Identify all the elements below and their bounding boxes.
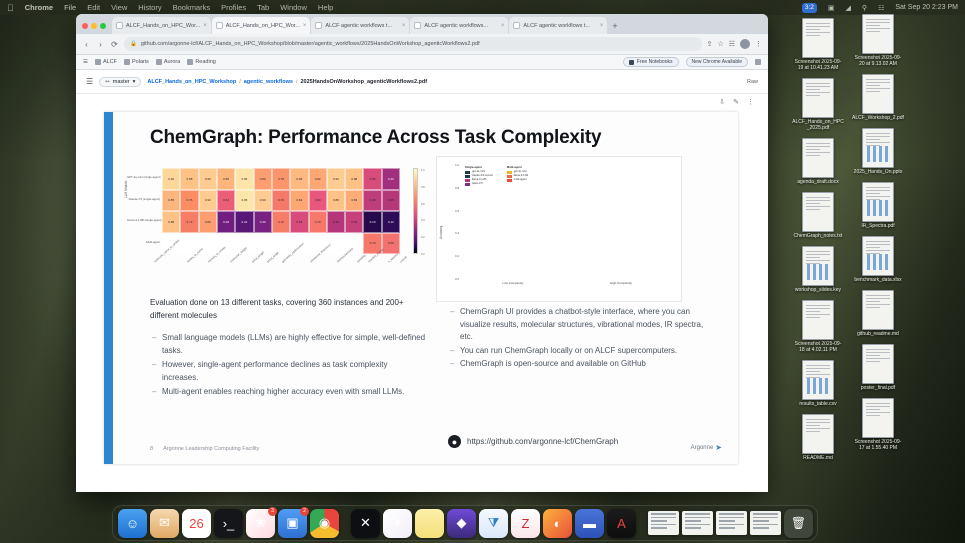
maximize-window-button[interactable] <box>100 23 106 29</box>
menu-item-profiles[interactable]: Profiles <box>221 3 246 12</box>
heatmap-cell: 0.83 <box>345 190 363 212</box>
slide-page-number: 8 <box>150 446 153 452</box>
desktop-icon[interactable]: results_table.csv <box>792 360 844 407</box>
menu-item-history[interactable]: History <box>138 3 161 12</box>
heatmap-cell: 0.55 <box>290 211 308 233</box>
bookmark-label: ALCF <box>103 59 117 65</box>
heatmap-cell: 0.82 <box>290 190 308 212</box>
heatmap-cell: 0.95 <box>235 168 253 190</box>
legend-group: Single-agentgpt-4o-miniclaude-3.5-sonnet… <box>465 165 493 186</box>
tab-close-icon[interactable]: × <box>203 23 207 29</box>
legend-swatch <box>507 171 512 174</box>
legend-swatch <box>465 175 470 178</box>
bar-chart-x-tick-labels: Low ComplexityHigh Complexity <box>459 281 675 295</box>
bookmark-alcf[interactable]: ALCF <box>95 59 117 65</box>
breadcrumb-separator: / <box>296 79 298 85</box>
legend-group-title: Single-agent <box>465 165 493 169</box>
desktop-icon[interactable]: ChemGraph_notes.txt <box>792 192 844 239</box>
legend-swatch <box>465 171 470 174</box>
heatmap-cell: 0.88 <box>180 168 198 190</box>
edit-icon[interactable]: ✎ <box>733 98 739 106</box>
desktop-icon[interactable]: workshop_slides.key <box>792 246 844 293</box>
macos-dock: ☺✉26›_❀3▣2◉✕✳◆⧩Z◐▬A🗑 <box>112 505 818 541</box>
desktop-icon[interactable]: agenda_draft.docx <box>792 138 844 185</box>
desktop-icon[interactable]: Screenshot 2025-09-18 at 4.02.11 PM <box>792 300 844 353</box>
presentation-slide: ChemGraph: Performance Across Task Compl… <box>104 112 738 464</box>
browser-tab-4[interactable]: ALCF agentic workflows t...× <box>509 17 607 34</box>
address-bar[interactable]: 🔒 github.com/argonne-lcf/ALCF_Hands_on_H… <box>124 37 702 51</box>
tab-favicon-icon <box>315 22 322 29</box>
slide-footer: 8 Argonne Leadership Computing Facility <box>150 446 259 452</box>
file-thumbnail-icon <box>802 192 834 232</box>
desktop-icon-column-2: Screenshot 2025-09-20 at 9.13.02 AMALCF_… <box>852 14 904 458</box>
breadcrumb-repo[interactable]: ALCF_Hands_on_HPC_Workshop <box>147 79 236 85</box>
bookmark-label: Reading <box>195 59 216 65</box>
file-thumbnail-icon <box>862 344 894 384</box>
desktop-icon-label: ALCF_Workshop_2.pdf <box>852 115 904 121</box>
dock-icon-slack[interactable]: ✳ <box>383 509 412 538</box>
desktop-icon-label: Screenshot 2025-09-18 at 4.02.11 PM <box>792 341 844 353</box>
profile-avatar[interactable] <box>740 39 750 49</box>
bar-chart-y-axis-label: Accuracy <box>439 226 443 239</box>
dock-icon-calendar[interactable]: 26 <box>182 509 211 538</box>
heatmap-cell: 0.70 <box>309 211 327 233</box>
legend-group: Multi-agentgpt-4o-minillama-3.1-8bmulti-… <box>507 165 528 186</box>
lock-icon: 🔒 <box>130 41 137 47</box>
heatmap-cell: 0.30 <box>254 211 272 233</box>
dock-badge: 3 <box>268 507 277 516</box>
back-button[interactable]: ‹ <box>82 40 91 49</box>
tab-close-icon[interactable]: × <box>501 23 505 29</box>
dock-icon-vscode[interactable]: ⧩ <box>479 509 508 538</box>
dock-icon-obsidian[interactable]: ◆ <box>447 509 476 538</box>
heatmap-cell: 0.78 <box>272 168 290 190</box>
chevron-down-icon: ▾ <box>133 79 136 85</box>
tab-title: ALCF agentic workflows t... <box>523 23 596 29</box>
tab-close-icon[interactable]: × <box>303 23 307 29</box>
heatmap-cell: 0.88 <box>327 190 345 212</box>
bookmark-polaris[interactable]: Polaris <box>124 59 149 65</box>
file-thumbnail-icon <box>862 14 894 54</box>
bookmark-label: Polaris <box>132 59 149 65</box>
tab-close-icon[interactable]: × <box>600 23 604 29</box>
github-logo-icon: ● <box>448 435 461 448</box>
macos-menu-bar:  Chrome File Edit View History Bookmark… <box>0 0 965 15</box>
heatmap-cell: 0.86 <box>290 168 308 190</box>
branch-selector[interactable]: ⇿ master ▾ <box>99 77 141 87</box>
tab-favicon-icon <box>414 22 421 29</box>
tab-favicon-icon <box>216 22 223 29</box>
battery-icon[interactable]: ▣ <box>828 4 835 12</box>
legend-label: multi-agent <box>514 178 527 182</box>
file-thumbnail-icon <box>862 236 894 276</box>
slide-accent-bar <box>104 112 113 464</box>
tab-favicon-icon <box>513 22 520 29</box>
desktop-icon-label: poster_final.pdf <box>852 385 904 391</box>
desktop-icon-label: Screenshot 2025-09-19 at 10.41.23 AM <box>792 59 844 71</box>
chrome-browser-window: ALCF_Hands_on_HPC_Wor...×ALCF_Hands_on_H… <box>76 14 768 492</box>
dock-icon-xquartz[interactable]: ✕ <box>351 509 380 538</box>
heatmap-cell: 0.85 <box>162 190 180 212</box>
reload-button[interactable]: ⟳ <box>110 40 119 49</box>
bar-chart-legend: Single-agentgpt-4o-miniclaude-3.5-sonnet… <box>465 165 528 186</box>
x-tick-label: Low Complexity <box>459 281 567 295</box>
slide-left-text: Evaluation done on 13 different tasks, c… <box>150 296 426 399</box>
branch-name: master <box>113 79 130 85</box>
desktop-icon-label: Screenshot 2025-09-17 at 1.55.40 PM <box>852 439 904 451</box>
slide-right-bullet-list: ChemGraph UI provides a chatbot-style in… <box>448 306 716 371</box>
bookmark-label: Aurora <box>164 59 181 65</box>
desktop-icon-label: results_table.csv <box>792 401 844 407</box>
wifi-icon[interactable]: ◢ <box>846 4 851 12</box>
desktop-icon[interactable]: ALCF_Workshop_2.pdf <box>852 74 904 121</box>
desktop-icon[interactable]: Screenshot 2025-09-19 at 10.41.23 AM <box>792 18 844 71</box>
x-tick-label: High Complexity <box>567 281 675 295</box>
tab-favicon-icon <box>116 22 123 29</box>
chrome-update-pill[interactable]: New Chrome Available <box>686 57 749 67</box>
heatmap-cell: 0.95 <box>235 190 253 212</box>
menubar-badge[interactable]: 3:2 <box>802 3 817 13</box>
forward-button[interactable]: › <box>96 40 105 49</box>
dock-icon-trash[interactable]: 🗑 <box>784 509 813 538</box>
heatmap-cell: 0.90 <box>327 168 345 190</box>
desktop-icon-label: workshop_slides.key <box>792 287 844 293</box>
desktop-icon[interactable]: README.md <box>792 414 844 461</box>
colorbar-tick-label: 0.4 <box>421 219 425 222</box>
desktop-icon-label: agenda_draft.docx <box>792 179 844 185</box>
search-icon[interactable]: ⚲ <box>862 4 867 12</box>
slide-title: ChemGraph: Performance Across Task Compl… <box>150 127 601 149</box>
desktop-icon[interactable]: poster_final.pdf <box>852 344 904 391</box>
tab-close-icon[interactable]: × <box>402 23 406 29</box>
colorbar-tick-label: 0.8 <box>421 186 425 189</box>
heatmap-cell: 0.10 <box>363 211 381 233</box>
heatmap-cell: 0.80 <box>254 168 272 190</box>
dock-icon-mail[interactable]: ✉ <box>150 509 179 538</box>
browser-tab-2[interactable]: ALCF agentic workflows t...× <box>311 17 409 34</box>
heatmap-cell: 0.22 <box>235 211 253 233</box>
pdf-toolbar: ⇩ ✎ ⋮ <box>76 94 768 109</box>
colorbar-tick-label: 1.0 <box>421 169 425 172</box>
desktop-icon[interactable]: 2025_Hands_On.pptx <box>852 128 904 175</box>
browser-tab-strip: ALCF_Hands_on_HPC_Wor...×ALCF_Hands_on_H… <box>76 14 768 34</box>
pill-label: New Chrome Available <box>692 59 743 65</box>
legend-label: qwen-2.5 <box>472 182 483 186</box>
sidebar-toggle-icon[interactable]: ☰ <box>83 59 88 65</box>
file-thumbnail-icon <box>802 138 834 178</box>
branch-icon: ⇿ <box>105 79 110 85</box>
browser-toolbar: ‹ › ⟳ 🔒 github.com/argonne-lcf/ALCF_Hand… <box>76 34 768 55</box>
menu-item-help[interactable]: Help <box>318 3 333 12</box>
file-thumbnail-icon <box>802 360 834 400</box>
tab-title: ALCF agentic workflows... <box>424 23 497 29</box>
heatmap-cell: 0.90 <box>199 168 217 190</box>
heatmap-cell: 0.40 <box>382 168 400 190</box>
heatmap-cell: 0.76 <box>180 190 198 212</box>
argonne-brand: Argonne ➤ <box>691 443 722 452</box>
colorbar-tick-label: 0.6 <box>421 203 425 206</box>
apple-logo-icon[interactable]:  <box>7 3 14 13</box>
download-icon[interactable]: ⇩ <box>719 98 725 106</box>
menu-item-chrome[interactable]: Chrome <box>25 3 53 12</box>
desktop-icon[interactable]: Screenshot 2025-09-17 at 1.55.40 PM <box>852 398 904 451</box>
desktop-icon[interactable]: Screenshot 2025-09-20 at 9.13.02 AM <box>852 14 904 67</box>
minimize-window-button[interactable] <box>91 23 97 29</box>
legend-entry: qwen-2.5 <box>465 182 493 186</box>
colorbar-tick-label: 0.0 <box>421 253 425 256</box>
desktop-icon[interactable]: github_readme.md <box>852 290 904 337</box>
dock-icon-teams[interactable]: ▬ <box>575 509 604 538</box>
tab-title: ALCF_Hands_on_HPC_Wor... <box>226 23 300 29</box>
menu-item-tab[interactable]: Tab <box>257 3 269 12</box>
heatmap-cell: 0.82 <box>309 168 327 190</box>
heatmap-row-label: GPT-4o-mini (single-agent) <box>127 174 160 180</box>
new-tab-button[interactable]: + <box>608 21 621 34</box>
bookmark-favicon <box>124 59 130 65</box>
file-thumbnail-icon <box>862 74 894 114</box>
heatmap-cell <box>272 233 290 255</box>
legend-swatch <box>465 179 470 182</box>
raw-button[interactable]: Raw <box>747 79 758 85</box>
heatmap-cell: 0.90 <box>199 190 217 212</box>
desktop-icon-label: github_readme.md <box>852 331 904 337</box>
slide-footer-text: Argonne Leadership Computing Facility <box>163 446 259 452</box>
slide-bullet: Multi-agent enables reaching higher accu… <box>150 385 426 398</box>
breadcrumb-separator: / <box>239 79 241 85</box>
slide-bullet: ChemGraph is open-source and available o… <box>448 358 716 371</box>
desktop-icon[interactable]: IR_Spectra.pdf <box>852 182 904 229</box>
github-link-url: https://github.com/argonne-lcf/ChemGraph <box>467 437 618 446</box>
colorbar-tick-label: 0.2 <box>421 236 425 239</box>
more-icon[interactable]: ⋮ <box>747 98 754 106</box>
legend-group-title: Multi-agent <box>507 165 528 169</box>
dock-icon-chrome[interactable]: ◉ <box>310 509 339 538</box>
dock-icon-acrobat[interactable]: A <box>607 509 636 538</box>
heatmap-cell: 0.48 <box>363 190 381 212</box>
heatmap-row: GPT-4o-mini (single-agent)0.920.880.900.… <box>162 168 400 190</box>
desktop-icon-label: benchmark_data.xlsx <box>852 277 904 283</box>
heatmap-cell: 0.50 <box>345 211 363 233</box>
desktop-icon-label: 2025_Hands_On.pptx <box>852 169 904 175</box>
slide-bullet: You can run ChemGraph locally or on ALCF… <box>448 345 716 358</box>
file-thumbnail-icon <box>802 78 834 118</box>
bookmark-star-icon[interactable]: ☆ <box>717 40 723 48</box>
tab-title: ALCF_Hands_on_HPC_Wor... <box>126 23 200 29</box>
window-traffic-lights[interactable] <box>78 23 111 34</box>
dock-minimized-window-1[interactable] <box>648 511 679 535</box>
heatmap-cell: 0.28 <box>217 211 235 233</box>
heatmap-grid: GPT-4o-mini (single-agent)0.920.880.900.… <box>162 168 400 254</box>
menu-item-view[interactable]: View <box>111 3 127 12</box>
slide-left-bullet-list: Small language models (LLMs) are highly … <box>150 331 426 398</box>
legend-swatch <box>507 175 512 178</box>
dock-minimized-window-3[interactable] <box>716 511 747 535</box>
slide-lead-text: Evaluation done on 13 different tasks, c… <box>150 296 426 322</box>
desktop-icon-label: Screenshot 2025-09-20 at 9.13.02 AM <box>852 55 904 67</box>
legend-entry: multi-agent <box>507 178 528 182</box>
heatmap-cell: 0.80 <box>199 211 217 233</box>
file-thumbnail-icon <box>802 18 834 58</box>
browser-tab-1[interactable]: ALCF_Hands_on_HPC_Wor...× <box>212 17 311 34</box>
file-thumbnail-icon <box>802 300 834 340</box>
heatmap-cell: 0.70 <box>272 190 290 212</box>
heatmap-cell: 0.72 <box>272 211 290 233</box>
dock-minimized-window-4[interactable] <box>750 511 781 535</box>
slide-right-text: ChemGraph UI provides a chatbot-style in… <box>448 306 716 372</box>
heatmap-cell: 0.60 <box>309 190 327 212</box>
legend-swatch <box>465 183 470 186</box>
desktop-icon[interactable]: benchmark_data.xlsx <box>852 236 904 283</box>
control-center-icon[interactable]: ☷ <box>878 4 884 12</box>
file-thumbnail-icon <box>862 182 894 222</box>
bookmark-reading[interactable]: Reading <box>187 59 216 65</box>
desktop-icon-label: ALCF_Hands_on_HPC_2025.pdf <box>792 119 844 131</box>
free-notebooks-pill[interactable]: Free Notebooks <box>623 57 679 67</box>
heatmap-colorbar: 1.00.80.60.40.20.0 <box>413 168 418 254</box>
file-thumbnail-icon <box>802 414 834 454</box>
heatmap-cell: 0.92 <box>162 168 180 190</box>
breadcrumb: ALCF_Hands_on_HPC_Workshop / agentic_wor… <box>147 79 427 85</box>
github-repo-link[interactable]: ● https://github.com/argonne-lcf/ChemGra… <box>448 435 618 448</box>
heatmap-row-label: Claude-3.5 (single-agent) <box>127 196 160 202</box>
file-thumbnail-icon <box>862 128 894 168</box>
heatmap-cell: 0.72 <box>180 211 198 233</box>
notebook-icon <box>629 60 634 65</box>
legend-swatch <box>507 179 512 182</box>
close-window-button[interactable] <box>82 23 88 29</box>
github-file-header: ☰ ⇿ master ▾ ALCF_Hands_on_HPC_Workshop … <box>76 70 768 94</box>
dock-minimized-window-2[interactable] <box>682 511 713 535</box>
heatmap-cell: 0.45 <box>382 190 400 212</box>
browser-tab-3[interactable]: ALCF agentic workflows...× <box>410 17 508 34</box>
heatmap-cell: 0.85 <box>217 168 235 190</box>
bookmark-favicon <box>156 59 162 65</box>
dock-icon-notes[interactable] <box>415 509 444 538</box>
bookmark-aurora[interactable]: Aurora <box>156 59 181 65</box>
argonne-chevron-icon: ➤ <box>715 443 722 452</box>
share-icon[interactable]: ⇪ <box>707 40 713 48</box>
desktop-icon-column-1: Screenshot 2025-09-19 at 10.41.23 AMALCF… <box>792 18 844 468</box>
menu-item-bookmarks[interactable]: Bookmarks <box>173 3 211 12</box>
file-thumbnail-icon <box>862 290 894 330</box>
heatmap-figure: LLM Models GPT-4o-mini (single-agent)0.9… <box>126 162 426 284</box>
heatmap-row-label: Multi-agent <box>127 239 160 245</box>
menu-item-edit[interactable]: Edit <box>87 3 100 12</box>
heatmap-x-tick-labels: molecule_name_to_smilessmiles_to_namefor… <box>162 254 400 284</box>
file-thumbnail-icon <box>802 246 834 286</box>
bookmark-favicon <box>95 59 101 65</box>
browser-tab-0[interactable]: ALCF_Hands_on_HPC_Wor...× <box>112 17 211 34</box>
heatmap-row-label: Llama-3.1-8B (single-agent) <box>127 217 160 223</box>
brand-label: Argonne <box>691 445 714 451</box>
tabs-container: ALCF_Hands_on_HPC_Wor...×ALCF_Hands_on_H… <box>112 17 607 34</box>
bar-chart-figure: Accuracy 0.00.20.40.60.81.0 Single-agent… <box>436 156 682 302</box>
bookmarks-bar: ☰ ALCF Polaris Aurora Reading Free Noteb… <box>76 55 768 70</box>
slide-bullet: Small language models (LLMs) are highly … <box>150 331 426 357</box>
heatmap-cell: 0.45 <box>327 211 345 233</box>
file-tree-icon[interactable]: ☰ <box>86 77 93 86</box>
desktop-screen:  Chrome File Edit View History Bookmark… <box>0 0 965 543</box>
desktop-icon-label: ChemGraph_notes.txt <box>792 233 844 239</box>
breadcrumb-folder[interactable]: agentic_workflows <box>244 79 293 85</box>
address-bar-url: github.com/argonne-lcf/ALCF_Hands_on_HPC… <box>141 41 480 47</box>
bar-chart-y-ticks: 0.00.20.40.60.81.0 <box>451 165 459 279</box>
desktop-icon-label: IR_Spectra.pdf <box>852 223 904 229</box>
heatmap-cell: 0.62 <box>217 190 235 212</box>
heatmap-cell: 0.12 <box>382 211 400 233</box>
file-thumbnail-icon <box>862 398 894 438</box>
heatmap-cell: 0.55 <box>363 168 381 190</box>
slide-bullet: However, single-agent performance declin… <box>150 358 426 384</box>
heatmap-row: Claude-3.5 (single-agent)0.850.760.900.6… <box>162 190 400 212</box>
dock-icon-photos[interactable]: ❀3 <box>246 509 275 538</box>
bar-group <box>573 165 664 279</box>
slide-bullet: ChemGraph UI provides a chatbot-style in… <box>448 306 716 344</box>
desktop-icon-label: README.md <box>792 455 844 461</box>
dock-icon-zoom[interactable]: ▣2 <box>278 509 307 538</box>
github-page: ☰ ⇿ master ▾ ALCF_Hands_on_HPC_Workshop … <box>76 70 768 492</box>
more-menu-icon[interactable]: ⋮ <box>755 40 762 48</box>
all-bookmarks-button[interactable] <box>755 59 761 65</box>
dock-icon-finder[interactable]: ☺ <box>118 509 147 538</box>
extensions-icon[interactable]: ☵ <box>729 40 735 48</box>
heatmap-cell: 0.88 <box>162 211 180 233</box>
dock-icon-terminal[interactable]: ›_ <box>214 509 243 538</box>
dock-badge: 2 <box>300 507 309 516</box>
menu-item-window[interactable]: Window <box>280 3 307 12</box>
menubar-clock[interactable]: Sat Sep 20 2:23 PM <box>895 4 958 11</box>
dock-icon-zotero[interactable]: Z <box>511 509 540 538</box>
folder-icon <box>755 59 761 65</box>
heatmap-row: Llama-3.1-8B (single-agent)0.880.720.800… <box>162 211 400 233</box>
heatmap-cell: 0.90 <box>254 190 272 212</box>
pill-label: Free Notebooks <box>637 59 673 65</box>
dock-icon-firefox[interactable]: ◐ <box>543 509 572 538</box>
bookmark-favicon <box>187 59 193 65</box>
heatmap-cell: 0.88 <box>345 168 363 190</box>
tab-title: ALCF agentic workflows t... <box>325 23 398 29</box>
desktop-icon[interactable]: ALCF_Hands_on_HPC_2025.pdf <box>792 78 844 131</box>
breadcrumb-file: 2025HandsOnWorkshop_agenticWorkflows2.pd… <box>300 79 427 85</box>
menu-item-file[interactable]: File <box>64 3 76 12</box>
